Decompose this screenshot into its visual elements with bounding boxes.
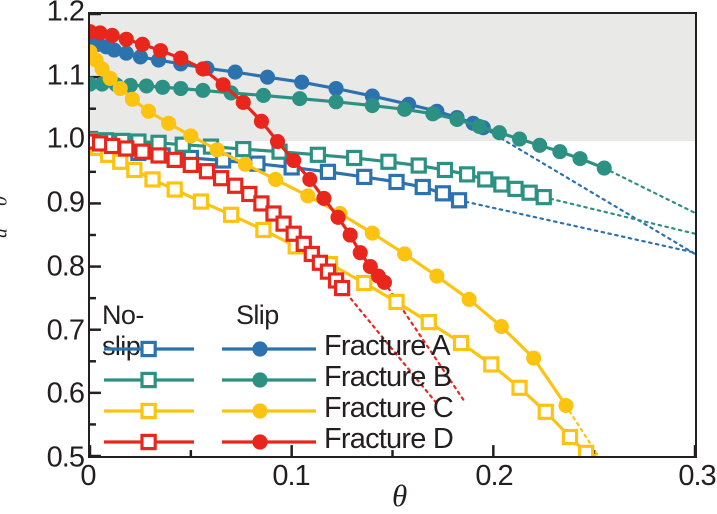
legend-swatch: [102, 365, 317, 395]
legend-header-slip: Slip: [236, 300, 279, 331]
x-axis-label: θ: [392, 478, 407, 514]
y-tick-label: 1.2: [0, 0, 84, 29]
x-tick-label: 0: [80, 460, 95, 493]
chart-figure: ka/k0 0.50.60.70.80.91.01.11.2 00.10.20.…: [0, 0, 717, 510]
y-tick-label: 1.0: [0, 123, 84, 156]
y-tick-label: 0.6: [0, 378, 84, 411]
legend-swatch: [102, 334, 317, 364]
y-tick-label: 1.1: [0, 59, 84, 92]
legend-label: Fracture B: [324, 361, 451, 394]
x-tick-label: 0.1: [272, 460, 309, 493]
x-tick-label: 0.2: [475, 460, 512, 493]
legend-label: Fracture C: [324, 392, 453, 425]
y-tick-label: 0.8: [0, 250, 84, 283]
x-tick-label: 0.3: [678, 460, 715, 493]
y-tick-label: 0.7: [0, 314, 84, 347]
legend-label: Fracture D: [324, 423, 453, 456]
legend-swatch: [102, 396, 317, 426]
y-tick-labels: 0.50.60.70.80.91.01.11.2: [0, 12, 84, 458]
legend-swatch: [102, 427, 317, 457]
y-tick-label: 0.9: [0, 187, 84, 220]
legend-label: Fracture A: [324, 330, 450, 363]
y-tick-label: 0.5: [0, 442, 84, 475]
